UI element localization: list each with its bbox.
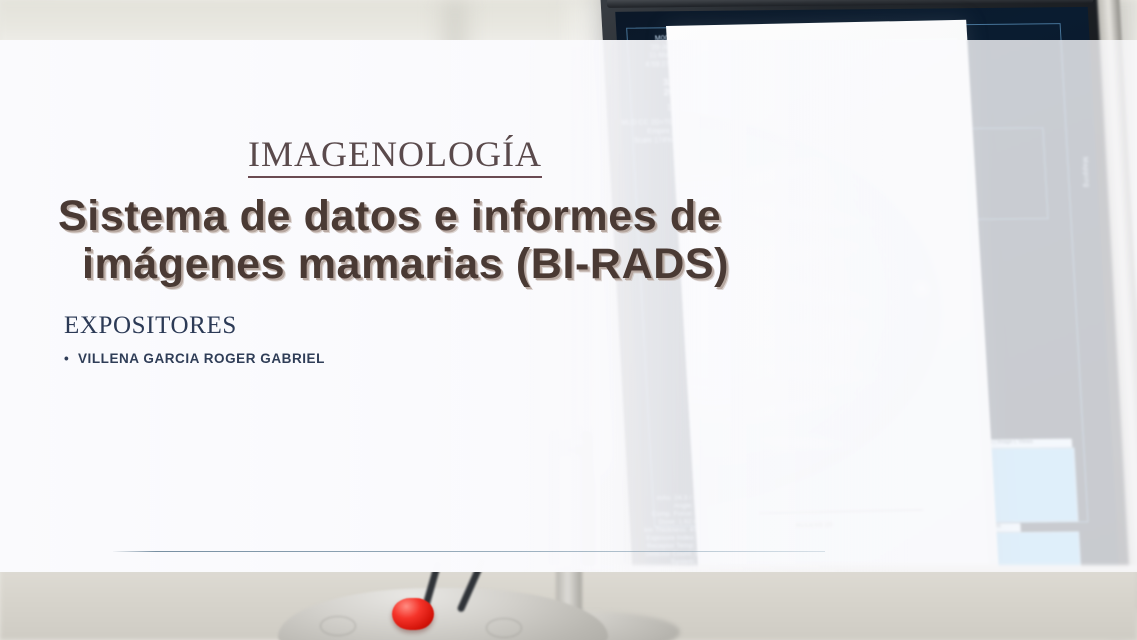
presentation-slide: M00922 '20-Jul-60 11-Mar-21 4:59:27 PM 3… — [0, 0, 1137, 640]
slide-title: Sistema de datos e informes de imágenes … — [58, 192, 758, 288]
slide-title-line-2: imágenes mamarias (BI-RADS) — [58, 240, 758, 288]
slide-kicker: IMAGENOLOGÍA — [248, 136, 542, 178]
slide-title-line-1: Sistema de datos e informes de — [58, 192, 758, 240]
presenter-list-item: •VILLENA GARCIA ROGER GABRIEL — [64, 351, 325, 366]
footer-divider-line — [113, 551, 825, 552]
presenter-name: VILLENA GARCIA ROGER GABRIEL — [78, 351, 325, 366]
bullet-icon: • — [64, 351, 78, 366]
slide-content: IMAGENOLOGÍA Sistema de datos e informes… — [0, 0, 1137, 640]
presenters-heading: EXPOSITORES — [64, 312, 237, 340]
